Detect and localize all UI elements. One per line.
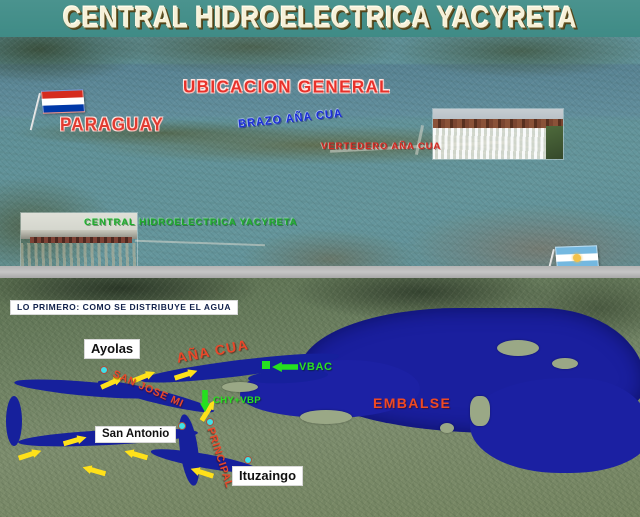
river-channel-left-bend — [6, 396, 22, 446]
island — [470, 396, 490, 426]
island — [222, 382, 258, 392]
sun-of-may-icon — [573, 253, 582, 261]
intake-marker-vbac — [262, 361, 270, 369]
vertedero-photo-inset — [432, 108, 564, 160]
station-dot-chyvbp — [206, 418, 214, 426]
place-label-san-antonio: San Antonio — [95, 426, 176, 443]
argentina-flag — [552, 245, 604, 266]
subtitle-ubicacion-general: UBICACION GENERAL — [183, 77, 391, 98]
island — [497, 340, 539, 356]
reservoir-lobe-east — [470, 378, 640, 473]
place-label-ayolas: Ayolas — [84, 339, 140, 359]
photo-vegetation — [546, 126, 563, 159]
place-label-ituzaingo: Ituzaingo — [232, 466, 303, 486]
country-label-paraguay: PARAGUAY — [60, 114, 164, 136]
argentina-flag-cloth — [555, 245, 599, 266]
photo-discharge-water — [433, 128, 563, 159]
page-title: CENTRAL HIDROELECTRICA YACYRETA — [63, 1, 577, 35]
feature-label-central-hidroelectrica: CENTRAL HIDROELECTRICA YACYRETA — [84, 217, 298, 228]
station-dot-ayolas — [100, 366, 108, 374]
photo-tailwater — [21, 243, 137, 266]
bottom-water-distribution-panel: LO PRIMERO: COMO SE DISTRIBUYE EL AGUA A… — [0, 278, 640, 517]
panel-separator — [0, 266, 640, 278]
flow-label-vbac: VBAC — [299, 361, 333, 373]
bottom-panel-banner: LO PRIMERO: COMO SE DISTRIBUYE EL AGUA — [10, 300, 238, 315]
reservoir-label-embalse: EMBALSE — [373, 395, 451, 411]
feature-label-vertedero-ana-cua: VERTEDERO AÑA CUA — [321, 141, 441, 152]
island — [552, 358, 578, 369]
slide-root: CENTRAL HIDROELECTRICA YACYRETA — [0, 0, 640, 517]
station-dot-ituzaingo — [244, 456, 252, 464]
flow-label-chy-vbp: CHY+VBP — [213, 395, 261, 406]
island — [440, 423, 454, 433]
station-dot-san-antonio — [178, 422, 186, 430]
island — [300, 410, 352, 424]
slide-title-bar: CENTRAL HIDROELECTRICA YACYRETA — [0, 0, 640, 37]
paraguay-flag-cloth — [41, 89, 85, 113]
top-satellite-panel: UBICACION GENERAL PARAGUAY BRAZO AÑA CUA… — [0, 37, 640, 266]
